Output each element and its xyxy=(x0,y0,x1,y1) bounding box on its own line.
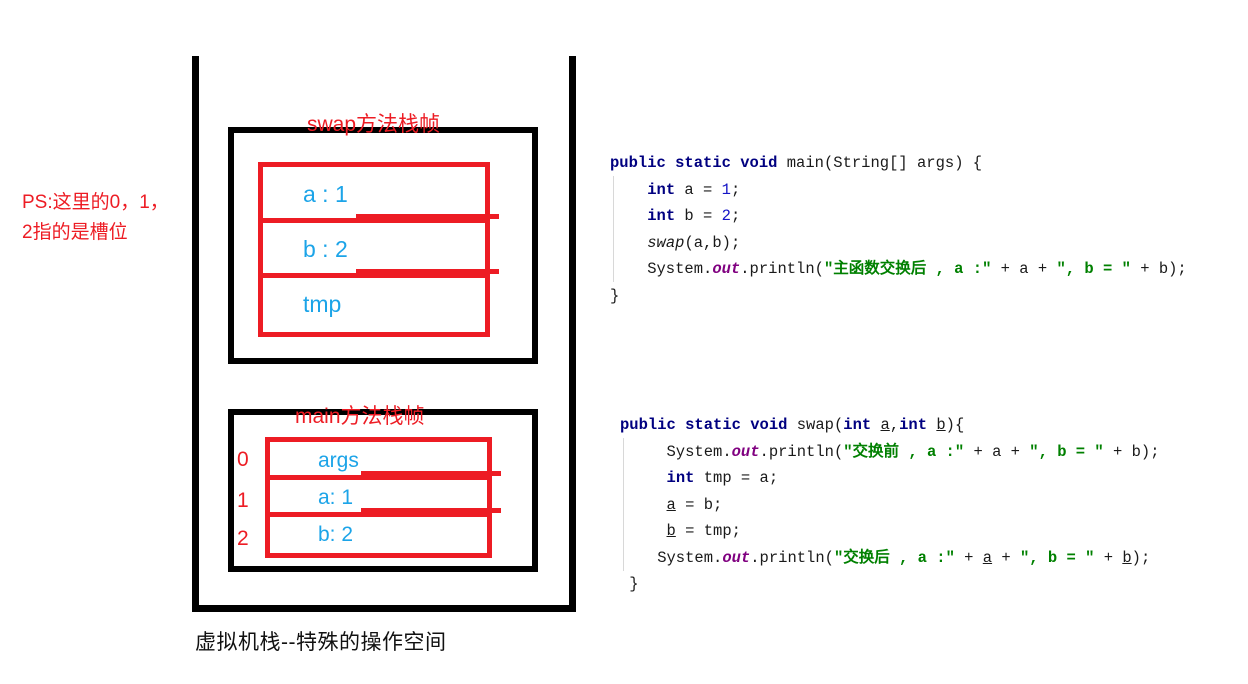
kw-int: int xyxy=(647,207,675,225)
slot-index-2: 2 xyxy=(237,527,249,551)
code-line: int a = 1; xyxy=(610,181,740,199)
string-literal: ", b = " xyxy=(1020,549,1094,567)
slot-label: args xyxy=(318,449,359,473)
param-a: a xyxy=(881,416,890,434)
param-a: a xyxy=(983,549,992,567)
swap-slot-table: a : 1 b : 2 tmp xyxy=(258,162,490,337)
call-swap: swap xyxy=(647,234,684,252)
param-b: b xyxy=(936,416,945,434)
kw-public-static-void: public static void xyxy=(610,154,777,172)
string-literal: ", b = " xyxy=(1057,260,1131,278)
string-literal: "主函数交换后 , a :" xyxy=(824,260,991,278)
method-params-main: (String[] args) { xyxy=(824,154,982,172)
code-line: System.out.println("交换后 , a :" + a + ", … xyxy=(620,549,1150,567)
literal-a-value: 1 xyxy=(722,181,731,199)
slot-label: b: 2 xyxy=(318,523,353,547)
slot-index-1: 1 xyxy=(237,489,249,513)
indent-guide xyxy=(623,438,624,571)
string-literal: ", b = " xyxy=(1029,443,1103,461)
param-b: b xyxy=(1122,549,1131,567)
kw-int: int xyxy=(899,416,927,434)
code-line: swap(a,b); xyxy=(610,234,740,252)
string-literal: "交换前 , a :" xyxy=(843,443,964,461)
main-slot-table: args a: 1 b: 2 xyxy=(265,437,492,558)
swap-frame-title: swap方法栈帧 xyxy=(307,108,440,138)
jvm-stack-caption: 虚拟机栈--特殊的操作空间 xyxy=(195,626,447,656)
method-name-main: main xyxy=(787,154,824,172)
jvm-stack-diagram: PS:这里的0，1， 2指的是槽位 swap方法栈帧 a : 1 b : 2 t… xyxy=(0,0,600,684)
code-line: } xyxy=(610,287,619,305)
method-name-swap: swap xyxy=(797,416,834,434)
code-line: int tmp = a; xyxy=(620,469,778,487)
ps-annotation-note: PS:这里的0，1， 2指的是槽位 xyxy=(22,188,200,248)
kw-int: int xyxy=(647,181,675,199)
slot-row: b: 2 xyxy=(270,516,487,553)
kw-public-static-void: public static void xyxy=(620,416,787,434)
literal-b-value: 2 xyxy=(722,207,731,225)
code-line: public static void main(String[] args) { xyxy=(610,154,982,172)
slot-row: tmp xyxy=(263,277,485,332)
swap-method-code-block: public static void swap(int a,int b){ Sy… xyxy=(620,412,1160,598)
main-frame-title: main方法栈帧 xyxy=(295,400,425,430)
param-b: b xyxy=(667,522,676,540)
param-a: a xyxy=(667,496,676,514)
slot-index-0: 0 xyxy=(237,448,249,472)
field-out: out xyxy=(732,443,760,461)
indent-guide xyxy=(613,176,614,282)
string-literal: "交换后 , a :" xyxy=(834,549,955,567)
kw-int: int xyxy=(843,416,871,434)
main-method-code-block: public static void main(String[] args) {… xyxy=(610,150,1187,309)
slot-label: a : 1 xyxy=(303,181,348,208)
code-line: public static void swap(int a,int b){ xyxy=(620,416,964,434)
slot-label: a: 1 xyxy=(318,486,353,510)
code-line: System.out.println("主函数交换后 , a :" + a + … xyxy=(610,260,1187,278)
code-line: a = b; xyxy=(620,496,722,514)
slot-label: tmp xyxy=(303,291,341,318)
code-line: } xyxy=(620,575,639,593)
field-out: out xyxy=(712,260,740,278)
code-line: int b = 2; xyxy=(610,207,740,225)
code-line: System.out.println("交换前 , a :" + a + ", … xyxy=(620,443,1160,461)
kw-int: int xyxy=(667,469,695,487)
slot-label: b : 2 xyxy=(303,236,348,263)
field-out: out xyxy=(722,549,750,567)
code-line: b = tmp; xyxy=(620,522,741,540)
